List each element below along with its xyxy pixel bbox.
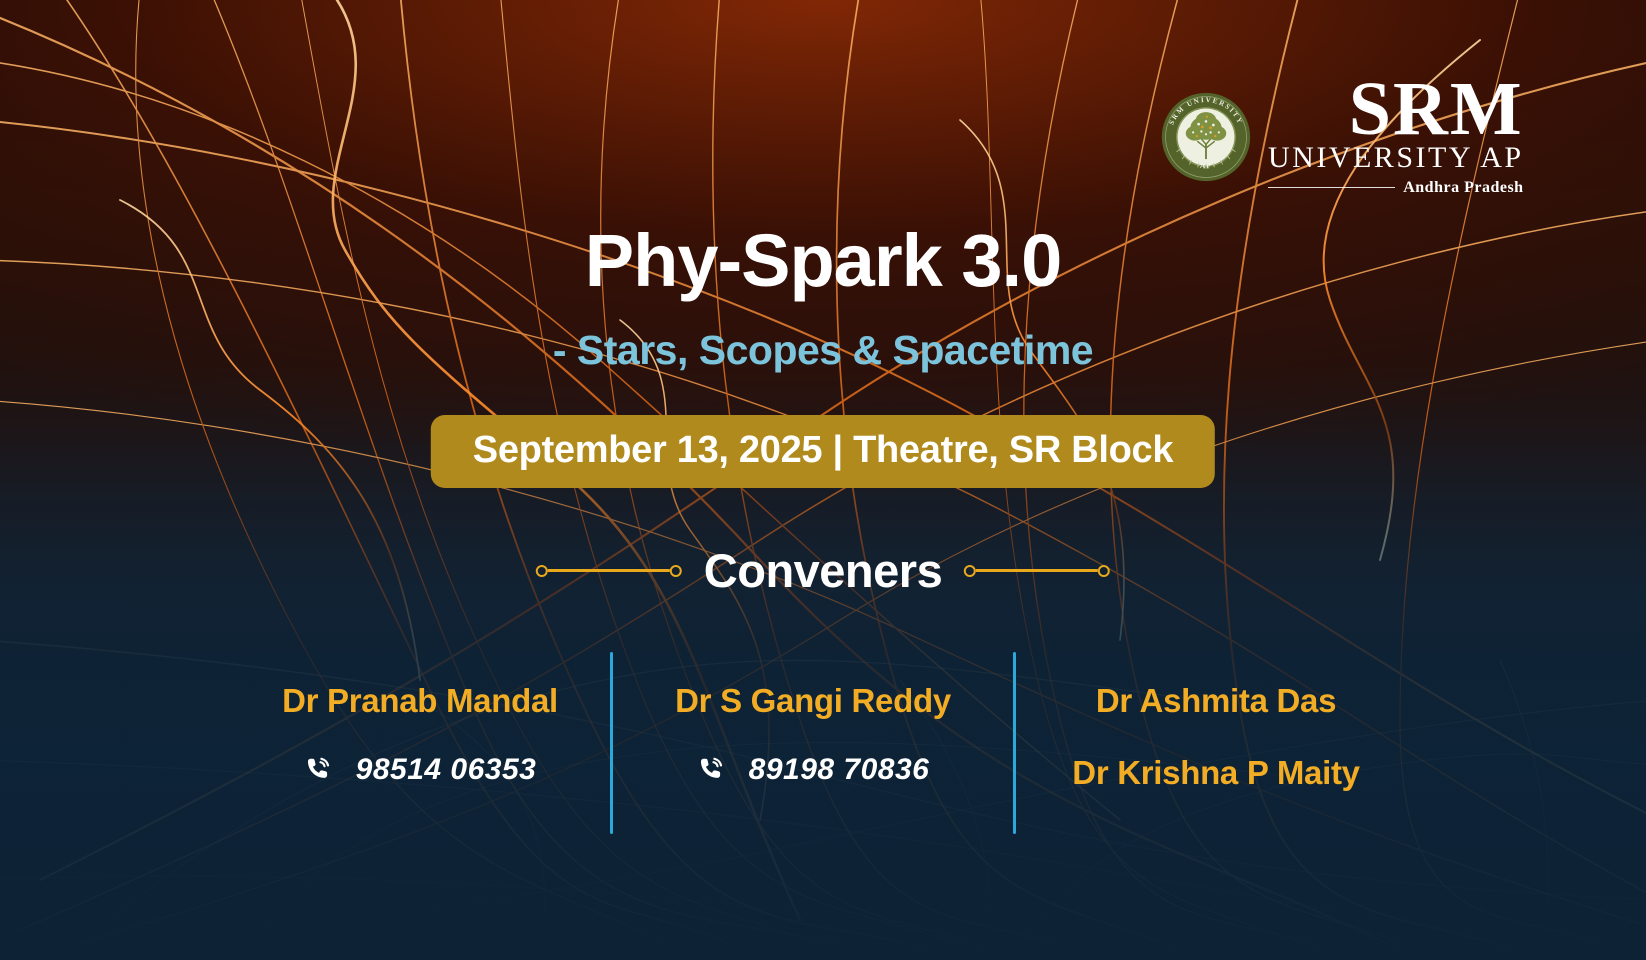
convener-name: Dr Krishna P Maity — [1072, 754, 1359, 792]
conveners-label: Conveners — [704, 543, 942, 598]
convener-phone: 89198 70836 — [749, 753, 930, 787]
srm-emblem-icon: SRM UNIVERSITY AP — [1160, 91, 1252, 183]
phone-icon — [697, 752, 733, 788]
decorative-line-left — [536, 565, 682, 577]
circle-icon — [670, 565, 682, 577]
phone-icon — [304, 752, 340, 788]
convener-column-3: Dr Ashmita Das Dr Krishna P Maity — [1016, 648, 1416, 792]
convener-column-1: Dr Pranab Mandal 98514 06353 — [230, 648, 610, 788]
convener-phone: 98514 06353 — [356, 753, 537, 787]
circle-icon — [964, 565, 976, 577]
wordmark-divider — [1268, 187, 1395, 188]
srm-wordmark: SRM UNIVERSITY AP Andhra Pradesh — [1268, 78, 1524, 197]
page-subtitle: - Stars, Scopes & Spacetime — [0, 327, 1646, 374]
conveners-list: Dr Pranab Mandal 98514 06353 Dr S Gangi … — [0, 648, 1646, 838]
brand-name: SRM — [1349, 78, 1524, 140]
brand-subname: UNIVERSITY AP — [1268, 142, 1524, 174]
event-poster: SRM UNIVERSITY AP SRM UNIVERSITY AP Andh… — [0, 0, 1646, 960]
circle-icon — [1098, 565, 1110, 577]
svg-text:AP: AP — [1200, 161, 1213, 171]
convener-name: Dr Pranab Mandal — [282, 682, 558, 720]
convener-name: Dr Ashmita Das — [1096, 682, 1336, 720]
page-title: Phy-Spark 3.0 — [0, 218, 1646, 303]
decorative-line-right — [964, 565, 1110, 577]
convener-contact: 89198 70836 — [697, 752, 930, 788]
date-venue-badge: September 13, 2025 | Theatre, SR Block — [431, 415, 1215, 488]
convener-contact: 98514 06353 — [304, 752, 537, 788]
convener-name: Dr S Gangi Reddy — [675, 682, 951, 720]
convener-column-2: Dr S Gangi Reddy 89198 70836 — [613, 648, 1013, 788]
brand-location: Andhra Pradesh — [1403, 179, 1523, 197]
circle-icon — [536, 565, 548, 577]
srm-university-logo: SRM UNIVERSITY AP SRM UNIVERSITY AP Andh… — [1160, 78, 1524, 197]
conveners-heading: Conveners — [536, 543, 1110, 598]
